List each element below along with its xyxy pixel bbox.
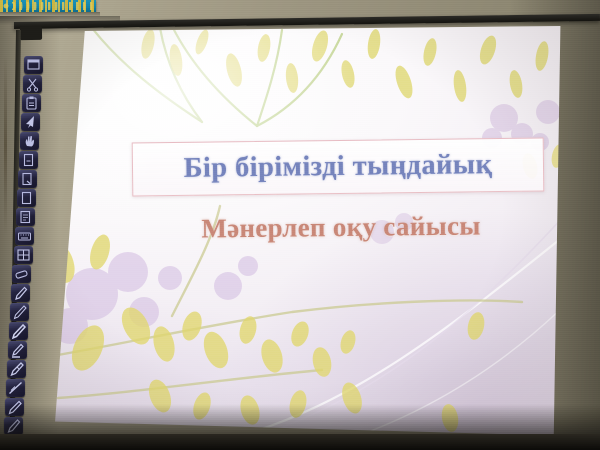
tool-page-blank-icon[interactable] <box>17 189 36 207</box>
tool-keyboard-icon[interactable] <box>15 227 34 245</box>
tool-page-text-icon[interactable] <box>16 208 35 226</box>
screen-mount-bracket <box>20 26 42 40</box>
tool-scissors-icon[interactable] <box>23 75 42 93</box>
whiteboard-tool-palette[interactable] <box>2 56 44 448</box>
tool-eraser-icon[interactable] <box>12 265 31 283</box>
tool-page-icon[interactable] <box>19 151 38 169</box>
screenshot-root: Бір бірімізді тыңдайық Мәнерлеп оқу сайы… <box>0 0 600 450</box>
slide-title-line: Бір бірімізді тыңдайық <box>183 149 492 185</box>
tool-line-icon[interactable] <box>6 379 25 397</box>
tool-cursor-arrow-icon[interactable] <box>21 113 40 131</box>
tool-pen-icon[interactable] <box>11 284 30 302</box>
slide-subtitle-line: Мәнерлеп оқу сайысы <box>176 210 506 244</box>
tool-pen-thick-icon[interactable] <box>9 322 28 340</box>
tool-marker-icon[interactable] <box>7 360 26 378</box>
tool-clipboard-icon[interactable] <box>22 94 41 112</box>
tool-highlighter-icon[interactable] <box>8 341 27 359</box>
tool-hand-icon[interactable] <box>20 132 39 150</box>
tool-pen-thin-icon[interactable] <box>10 303 29 321</box>
kazakh-ornament-border <box>0 0 96 12</box>
tool-page-next-icon[interactable] <box>18 170 37 188</box>
slide-title-banner: Бір бірімізді тыңдайық <box>132 137 545 196</box>
bottom-ledge <box>0 434 600 450</box>
tool-select-window-icon[interactable] <box>24 56 43 74</box>
tool-grid-icon[interactable] <box>14 246 33 264</box>
